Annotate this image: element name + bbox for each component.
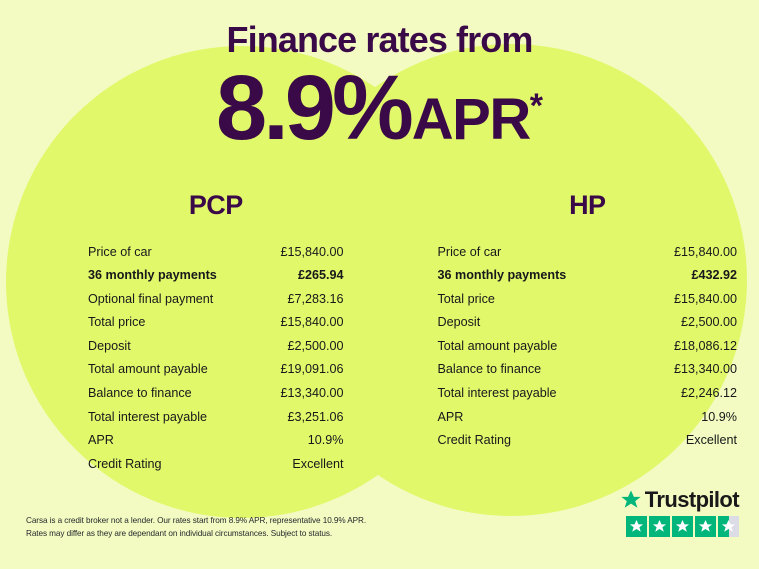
star-icon-5-half (718, 516, 739, 537)
row-value: £13,340.00 (280, 387, 343, 400)
row-value: £3,251.06 (287, 411, 343, 424)
table-row: 36 monthly payments £265.94 (88, 264, 344, 288)
plan-card-hp: HP Price of car £15,840.00 36 monthly pa… (380, 190, 759, 476)
row-value: £265.94 (298, 269, 344, 282)
row-label: Price of car (88, 246, 152, 259)
table-row: Optional final payment £7,283.16 (88, 287, 344, 311)
table-row: APR 10.9% (88, 429, 344, 453)
row-value: £19,091.06 (280, 363, 343, 376)
row-label: Optional final payment (88, 293, 213, 306)
rate-asterisk: * (530, 89, 543, 123)
table-row: Credit Rating Excellent (438, 429, 738, 453)
row-value: £15,840.00 (674, 246, 737, 259)
row-value: £18,086.12 (674, 340, 737, 353)
trustpilot-name: Trustpilot (645, 489, 739, 511)
row-label: Balance to finance (438, 363, 542, 376)
legal-disclaimer: Carsa is a credit broker not a lender. O… (26, 514, 456, 541)
row-value: £13,340.00 (674, 363, 737, 376)
table-row: Balance to finance £13,340.00 (438, 358, 738, 382)
table-row: 36 monthly payments £432.92 (438, 264, 738, 288)
hero-section: Finance rates from 8.9% APR * (0, 0, 759, 154)
plan-title-pcp: PCP (88, 190, 344, 221)
row-value: Excellent (686, 434, 737, 447)
star-icon-2 (649, 516, 670, 537)
row-value: £2,500.00 (287, 340, 343, 353)
row-value: £432.92 (691, 269, 737, 282)
table-row: Deposit £2,500.00 (438, 311, 738, 335)
table-row: Balance to finance £13,340.00 (88, 382, 344, 406)
trustpilot-star-rating (626, 516, 739, 537)
table-row: Total price £15,840.00 (88, 311, 344, 335)
table-row: Total amount payable £18,086.12 (438, 334, 738, 358)
plan-card-pcp: PCP Price of car £15,840.00 36 monthly p… (0, 190, 380, 476)
table-row: Credit Rating Excellent (88, 452, 344, 476)
star-icon-4 (695, 516, 716, 537)
row-label: APR (88, 434, 114, 447)
row-label: Total price (438, 293, 495, 306)
row-label: Credit Rating (88, 458, 162, 471)
trustpilot-rating: Trustpilot (620, 489, 739, 537)
finance-plan-comparison: PCP Price of car £15,840.00 36 monthly p… (0, 190, 759, 476)
table-row: Total interest payable £2,246.12 (438, 382, 738, 406)
row-label: Price of car (438, 246, 502, 259)
row-label: 36 monthly payments (438, 269, 567, 282)
row-value: 10.9% (701, 411, 737, 424)
row-value: £7,283.16 (287, 293, 343, 306)
row-label: Total interest payable (438, 387, 557, 400)
row-value: £2,500.00 (681, 316, 737, 329)
row-label: Deposit (438, 316, 481, 329)
promo-banner: Finance rates from 8.9% APR * PCP Price … (0, 0, 759, 569)
star-icon-3 (672, 516, 693, 537)
row-label: Balance to finance (88, 387, 192, 400)
row-value: £15,840.00 (280, 316, 343, 329)
row-value: Excellent (292, 458, 343, 471)
table-row: Price of car £15,840.00 (438, 240, 738, 264)
row-label: APR (438, 411, 464, 424)
row-label: Credit Rating (438, 434, 512, 447)
row-label: Total amount payable (88, 363, 208, 376)
table-row: Deposit £2,500.00 (88, 334, 344, 358)
row-label: Deposit (88, 340, 131, 353)
rate-number: 8.9% (216, 62, 410, 154)
rate-unit: APR (410, 91, 530, 149)
table-row: Total amount payable £19,091.06 (88, 358, 344, 382)
row-value: 10.9% (308, 434, 344, 447)
trustpilot-wordmark: Trustpilot (620, 489, 739, 511)
plan-rows-pcp: Price of car £15,840.00 36 monthly payme… (88, 240, 344, 476)
disclaimer-line-1: Carsa is a credit broker not a lender. O… (26, 514, 456, 527)
row-value: £15,840.00 (674, 293, 737, 306)
row-value: £2,246.12 (681, 387, 737, 400)
row-label: Total interest payable (88, 411, 207, 424)
headline-rate: 8.9% APR * (0, 60, 759, 154)
row-label: Total price (88, 316, 145, 329)
table-row: Total price £15,840.00 (438, 287, 738, 311)
row-label: 36 monthly payments (88, 269, 217, 282)
table-row: Total interest payable £3,251.06 (88, 405, 344, 429)
row-value: £15,840.00 (280, 246, 343, 259)
table-row: Price of car £15,840.00 (88, 240, 344, 264)
page-title: Finance rates from (0, 0, 759, 60)
row-label: Total amount payable (438, 340, 558, 353)
trustpilot-star-icon (620, 489, 642, 511)
plan-rows-hp: Price of car £15,840.00 36 monthly payme… (438, 240, 738, 452)
disclaimer-line-2: Rates may differ as they are dependant o… (26, 527, 456, 540)
star-icon-1 (626, 516, 647, 537)
plan-title-hp: HP (438, 190, 738, 221)
table-row: APR 10.9% (438, 405, 738, 429)
